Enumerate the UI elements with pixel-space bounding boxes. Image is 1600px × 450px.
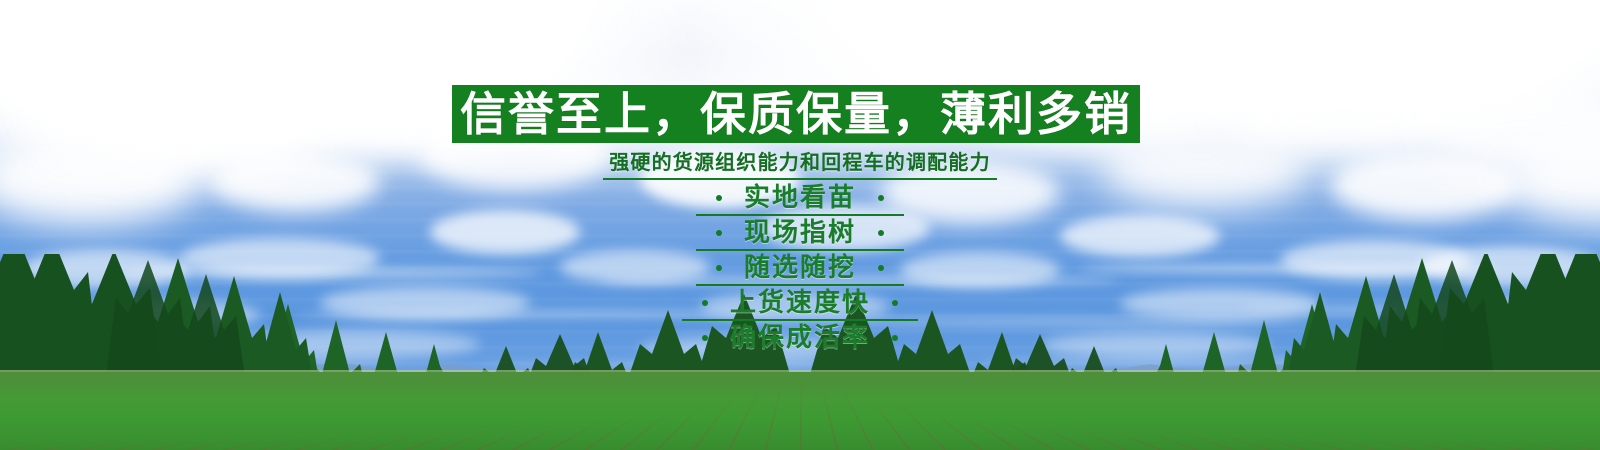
feature-label: 实地看苗 xyxy=(722,185,878,211)
feature-list: 实地看苗现场指树随选随挖上货速度快确保成活率 xyxy=(0,180,1600,355)
bullet-dot-icon xyxy=(892,335,898,341)
headline-bar: 信誉至上，保质保量，薄利多销 xyxy=(452,85,1140,143)
feature-item: 实地看苗 xyxy=(0,180,1600,215)
feature-label: 现场指树 xyxy=(722,220,878,246)
bullet-dot-icon xyxy=(878,230,884,236)
feature-item: 确保成活率 xyxy=(0,320,1600,355)
feature-label: 确保成活率 xyxy=(708,325,892,351)
feature-item: 上货速度快 xyxy=(0,285,1600,320)
feature-label: 上货速度快 xyxy=(708,290,892,316)
subheadline: 强硬的货源组织能力和回程车的调配能力 xyxy=(0,146,1600,180)
subheadline-text: 强硬的货源组织能力和回程车的调配能力 xyxy=(603,146,997,180)
feature-item: 现场指树 xyxy=(0,215,1600,250)
feature-label: 随选随挖 xyxy=(722,255,878,281)
bullet-dot-icon xyxy=(892,300,898,306)
promo-banner: 信誉至上，保质保量，薄利多销 强硬的货源组织能力和回程车的调配能力 实地看苗现场… xyxy=(0,0,1600,450)
headline-text: 信誉至上，保质保量，薄利多销 xyxy=(460,91,1132,137)
bullet-dot-icon xyxy=(878,265,884,271)
bullet-dot-icon xyxy=(878,195,884,201)
banner-copy: 信誉至上，保质保量，薄利多销 强硬的货源组织能力和回程车的调配能力 实地看苗现场… xyxy=(0,0,1600,450)
feature-item: 随选随挖 xyxy=(0,250,1600,285)
